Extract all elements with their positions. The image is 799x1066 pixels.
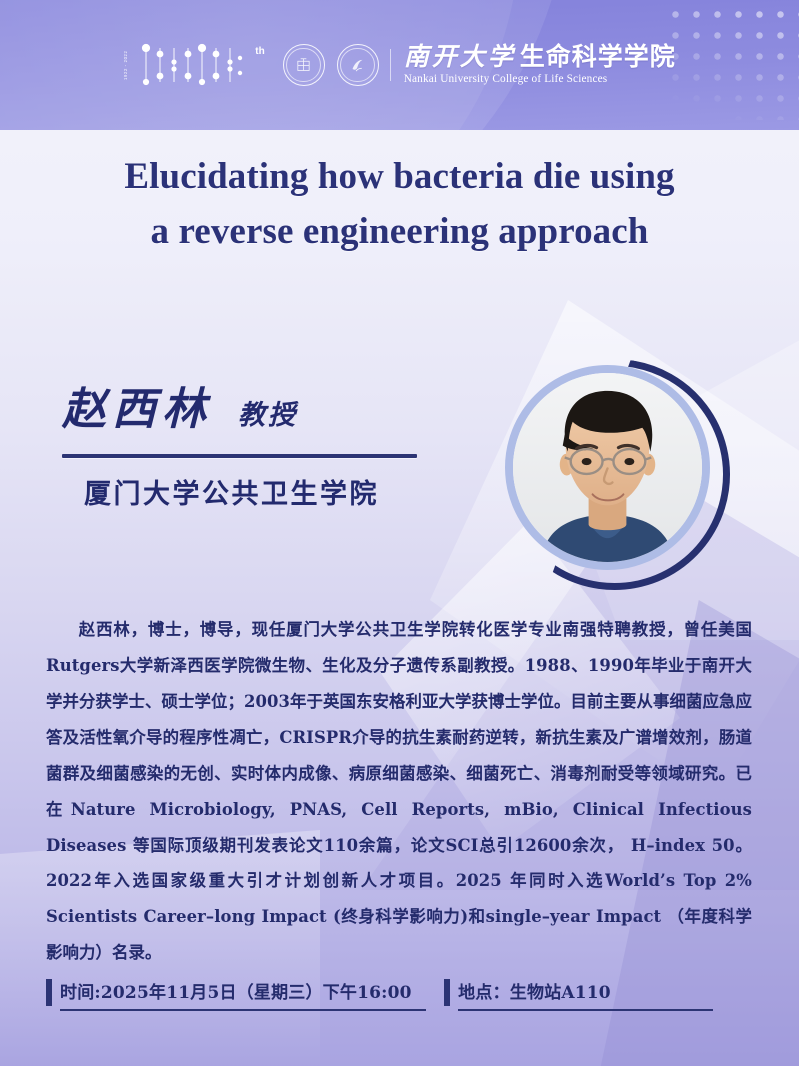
time-underline	[60, 1009, 426, 1011]
college-of-life-sciences-seal	[337, 44, 379, 86]
place-accent-bar	[444, 979, 450, 1006]
logo-row: 1922 - 2022	[0, 0, 799, 130]
nankai-crest-icon	[295, 57, 312, 74]
wordmark-university-cn: 南开大学	[404, 44, 520, 71]
poster-header: 1922 - 2022	[0, 0, 799, 130]
anniversary-suffix: th	[255, 46, 264, 57]
speaker-academic-title: 教授	[238, 402, 298, 432]
time-accent-bar	[46, 979, 52, 1006]
anniversary-years: 1922 - 2022	[123, 48, 128, 82]
nankai-university-seal	[283, 44, 325, 86]
poster-title: Elucidating how bacteria die using a rev…	[0, 150, 799, 260]
poster-footer: 时间:2025年11月5日（星期三）下午16:00 地点：生物站A110	[46, 978, 752, 1011]
dna-helix-icon	[132, 42, 250, 88]
seminar-poster: 1922 - 2022	[0, 0, 799, 1066]
wordmark: 南开大学生命科学学院 Nankai University College of …	[404, 45, 676, 86]
wordmark-chinese: 南开大学生命科学学院	[404, 45, 676, 72]
speaker-name-row: 赵西林 教授	[62, 388, 432, 432]
wordmark-english: Nankai University College of Life Scienc…	[404, 73, 676, 85]
anniversary-mark: 1922 - 2022	[123, 42, 264, 88]
place-underline	[458, 1009, 713, 1011]
speaker-divider	[62, 454, 417, 458]
portrait-illustration-icon	[513, 373, 702, 562]
title-line-2: a reverse engineering approach	[0, 205, 799, 260]
speaker-portrait	[505, 365, 710, 570]
event-place: 地点：生物站A110	[444, 978, 752, 1011]
speaker-name: 赵西林	[62, 388, 212, 432]
logo-divider	[390, 49, 391, 81]
wordmark-college-cn: 生命科学学院	[520, 44, 676, 71]
event-time: 时间:2025年11月5日（星期三）下午16:00	[46, 978, 444, 1011]
speaker-bio: 赵西林，博士，博导，现任厦门大学公共卫生学院转化医学专业南强特聘教授，曾任美国R…	[46, 612, 752, 971]
bio-paragraph: 赵西林，博士，博导，现任厦门大学公共卫生学院转化医学专业南强特聘教授，曾任美国R…	[46, 612, 752, 971]
speaker-block: 赵西林 教授 厦门大学公共卫生学院	[62, 388, 432, 511]
event-place-text: 地点：生物站A110	[458, 978, 752, 1003]
title-line-1: Elucidating how bacteria die using	[0, 150, 799, 205]
speaker-affiliation: 厦门大学公共卫生学院	[62, 472, 432, 511]
life-sciences-crest-icon	[349, 57, 366, 74]
portrait-photo	[513, 373, 702, 562]
event-time-text: 时间:2025年11月5日（星期三）下午16:00	[60, 978, 444, 1003]
